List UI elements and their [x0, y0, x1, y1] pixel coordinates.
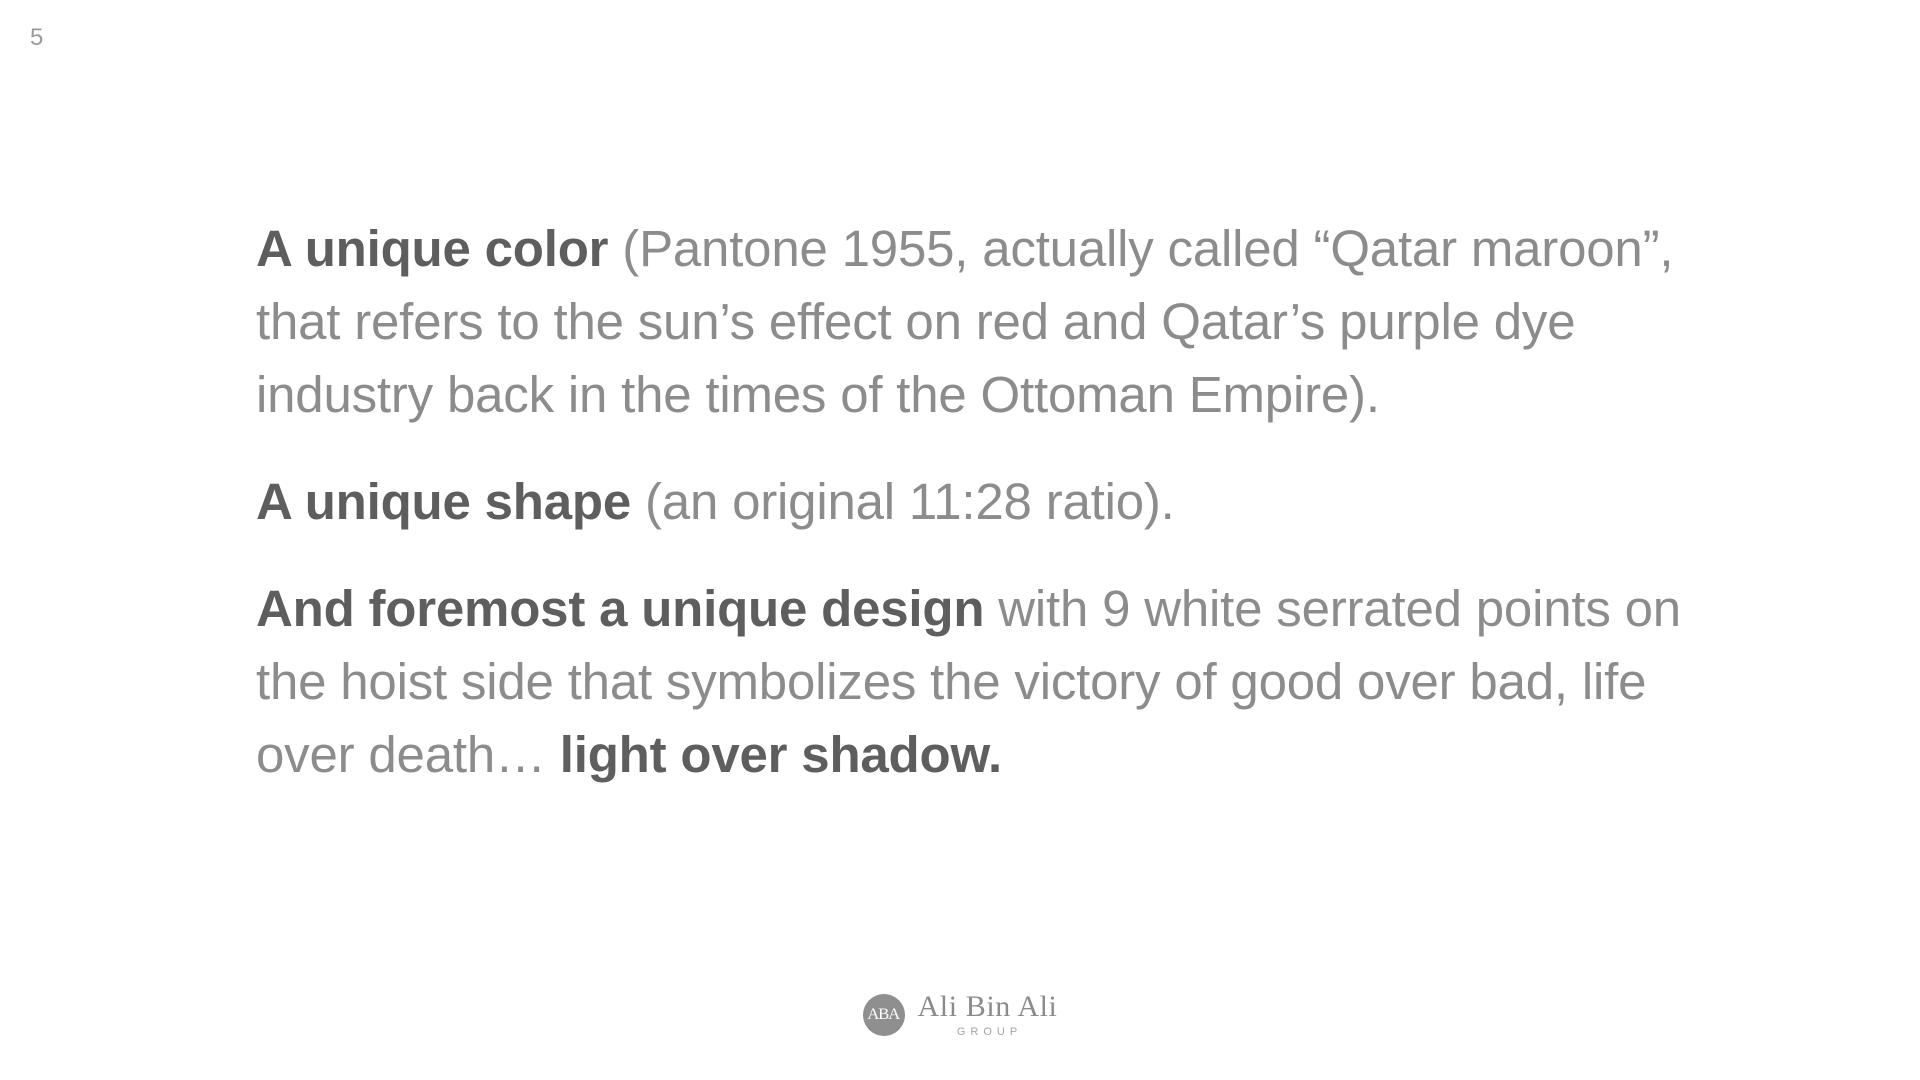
- body-copy-block: A unique color (Pantone 1955, actually c…: [256, 212, 1706, 791]
- paragraph-tail-light-over-shadow: light over shadow.: [560, 726, 1002, 783]
- page-number: 5: [30, 26, 44, 50]
- footer-brand-logo: ABA Ali Bin Ali GROUP: [0, 992, 1920, 1038]
- brand-name: Ali Bin Ali: [918, 992, 1058, 1023]
- paragraph-lead-unique-shape: A unique shape: [256, 473, 631, 530]
- paragraph-lead-unique-design: And foremost a unique design: [256, 580, 984, 637]
- paragraph-lead-unique-color: A unique color: [256, 220, 608, 277]
- slide-canvas: 5 A unique color (Pantone 1955, actually…: [0, 0, 1920, 1080]
- paragraph-unique-design: And foremost a unique design with 9 whit…: [256, 572, 1706, 791]
- aba-monogram-icon: ABA: [863, 994, 905, 1036]
- paragraph-body-unique-shape: (an original 11:28 ratio).: [631, 473, 1175, 530]
- brand-subtitle: GROUP: [953, 1027, 1022, 1038]
- paragraph-unique-color: A unique color (Pantone 1955, actually c…: [256, 212, 1706, 431]
- brand-wordmark: Ali Bin Ali GROUP: [918, 992, 1058, 1038]
- aba-monogram-label: ABA: [868, 1006, 900, 1024]
- paragraph-unique-shape: A unique shape (an original 11:28 ratio)…: [256, 465, 1706, 538]
